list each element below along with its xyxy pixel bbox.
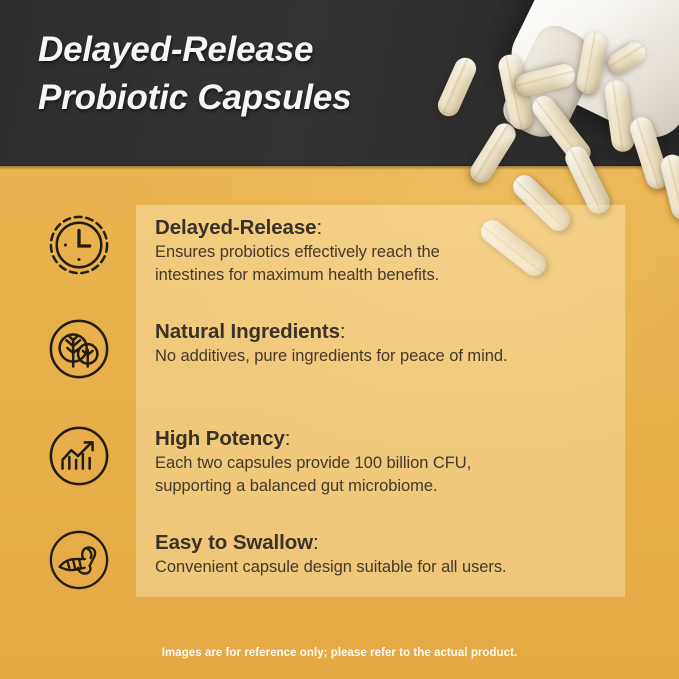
feature-description: Ensures probiotics effectively reach the…	[155, 241, 625, 287]
feature-text: High Potency: Each two capsules provide …	[155, 425, 625, 498]
feature-title-colon: :	[285, 427, 291, 450]
page-title: Delayed-Release Probiotic Capsules	[38, 26, 468, 122]
feature-title-label: Easy to Swallow	[155, 531, 313, 554]
growth-chart-icon	[48, 425, 110, 487]
feature-title: Delayed-Release:	[155, 214, 625, 241]
product-infographic: Delayed-Release Probiotic Capsules Delay…	[0, 0, 679, 679]
feature-title: Easy to Swallow:	[155, 529, 625, 556]
trees-icon	[48, 318, 110, 380]
feature-title-colon: :	[316, 216, 322, 239]
feature-title-label: Natural Ingredients	[155, 320, 340, 343]
feature-title: Natural Ingredients:	[155, 318, 625, 345]
feature-title-colon: :	[340, 320, 346, 343]
feature-text: Delayed-Release: Ensures probiotics effe…	[155, 214, 625, 287]
feature-text: Natural Ingredients: No additives, pure …	[155, 318, 625, 368]
capsule	[466, 119, 520, 187]
feature-title-label: Delayed-Release	[155, 216, 316, 239]
feature-title-colon: :	[313, 531, 319, 554]
clock-icon	[48, 214, 110, 276]
hand-holding-capsule-icon	[48, 529, 110, 591]
feature-description: Convenient capsule design suitable for a…	[155, 556, 625, 579]
feature-title: High Potency:	[155, 425, 625, 452]
disclaimer-text: Images are for reference only; please re…	[0, 647, 679, 659]
feature-description: No additives, pure ingredients for peace…	[155, 345, 625, 368]
feature-title-label: High Potency	[155, 427, 285, 450]
feature-description: Each two capsules provide 100 billion CF…	[155, 452, 625, 498]
feature-text: Easy to Swallow: Convenient capsule desi…	[155, 529, 625, 579]
